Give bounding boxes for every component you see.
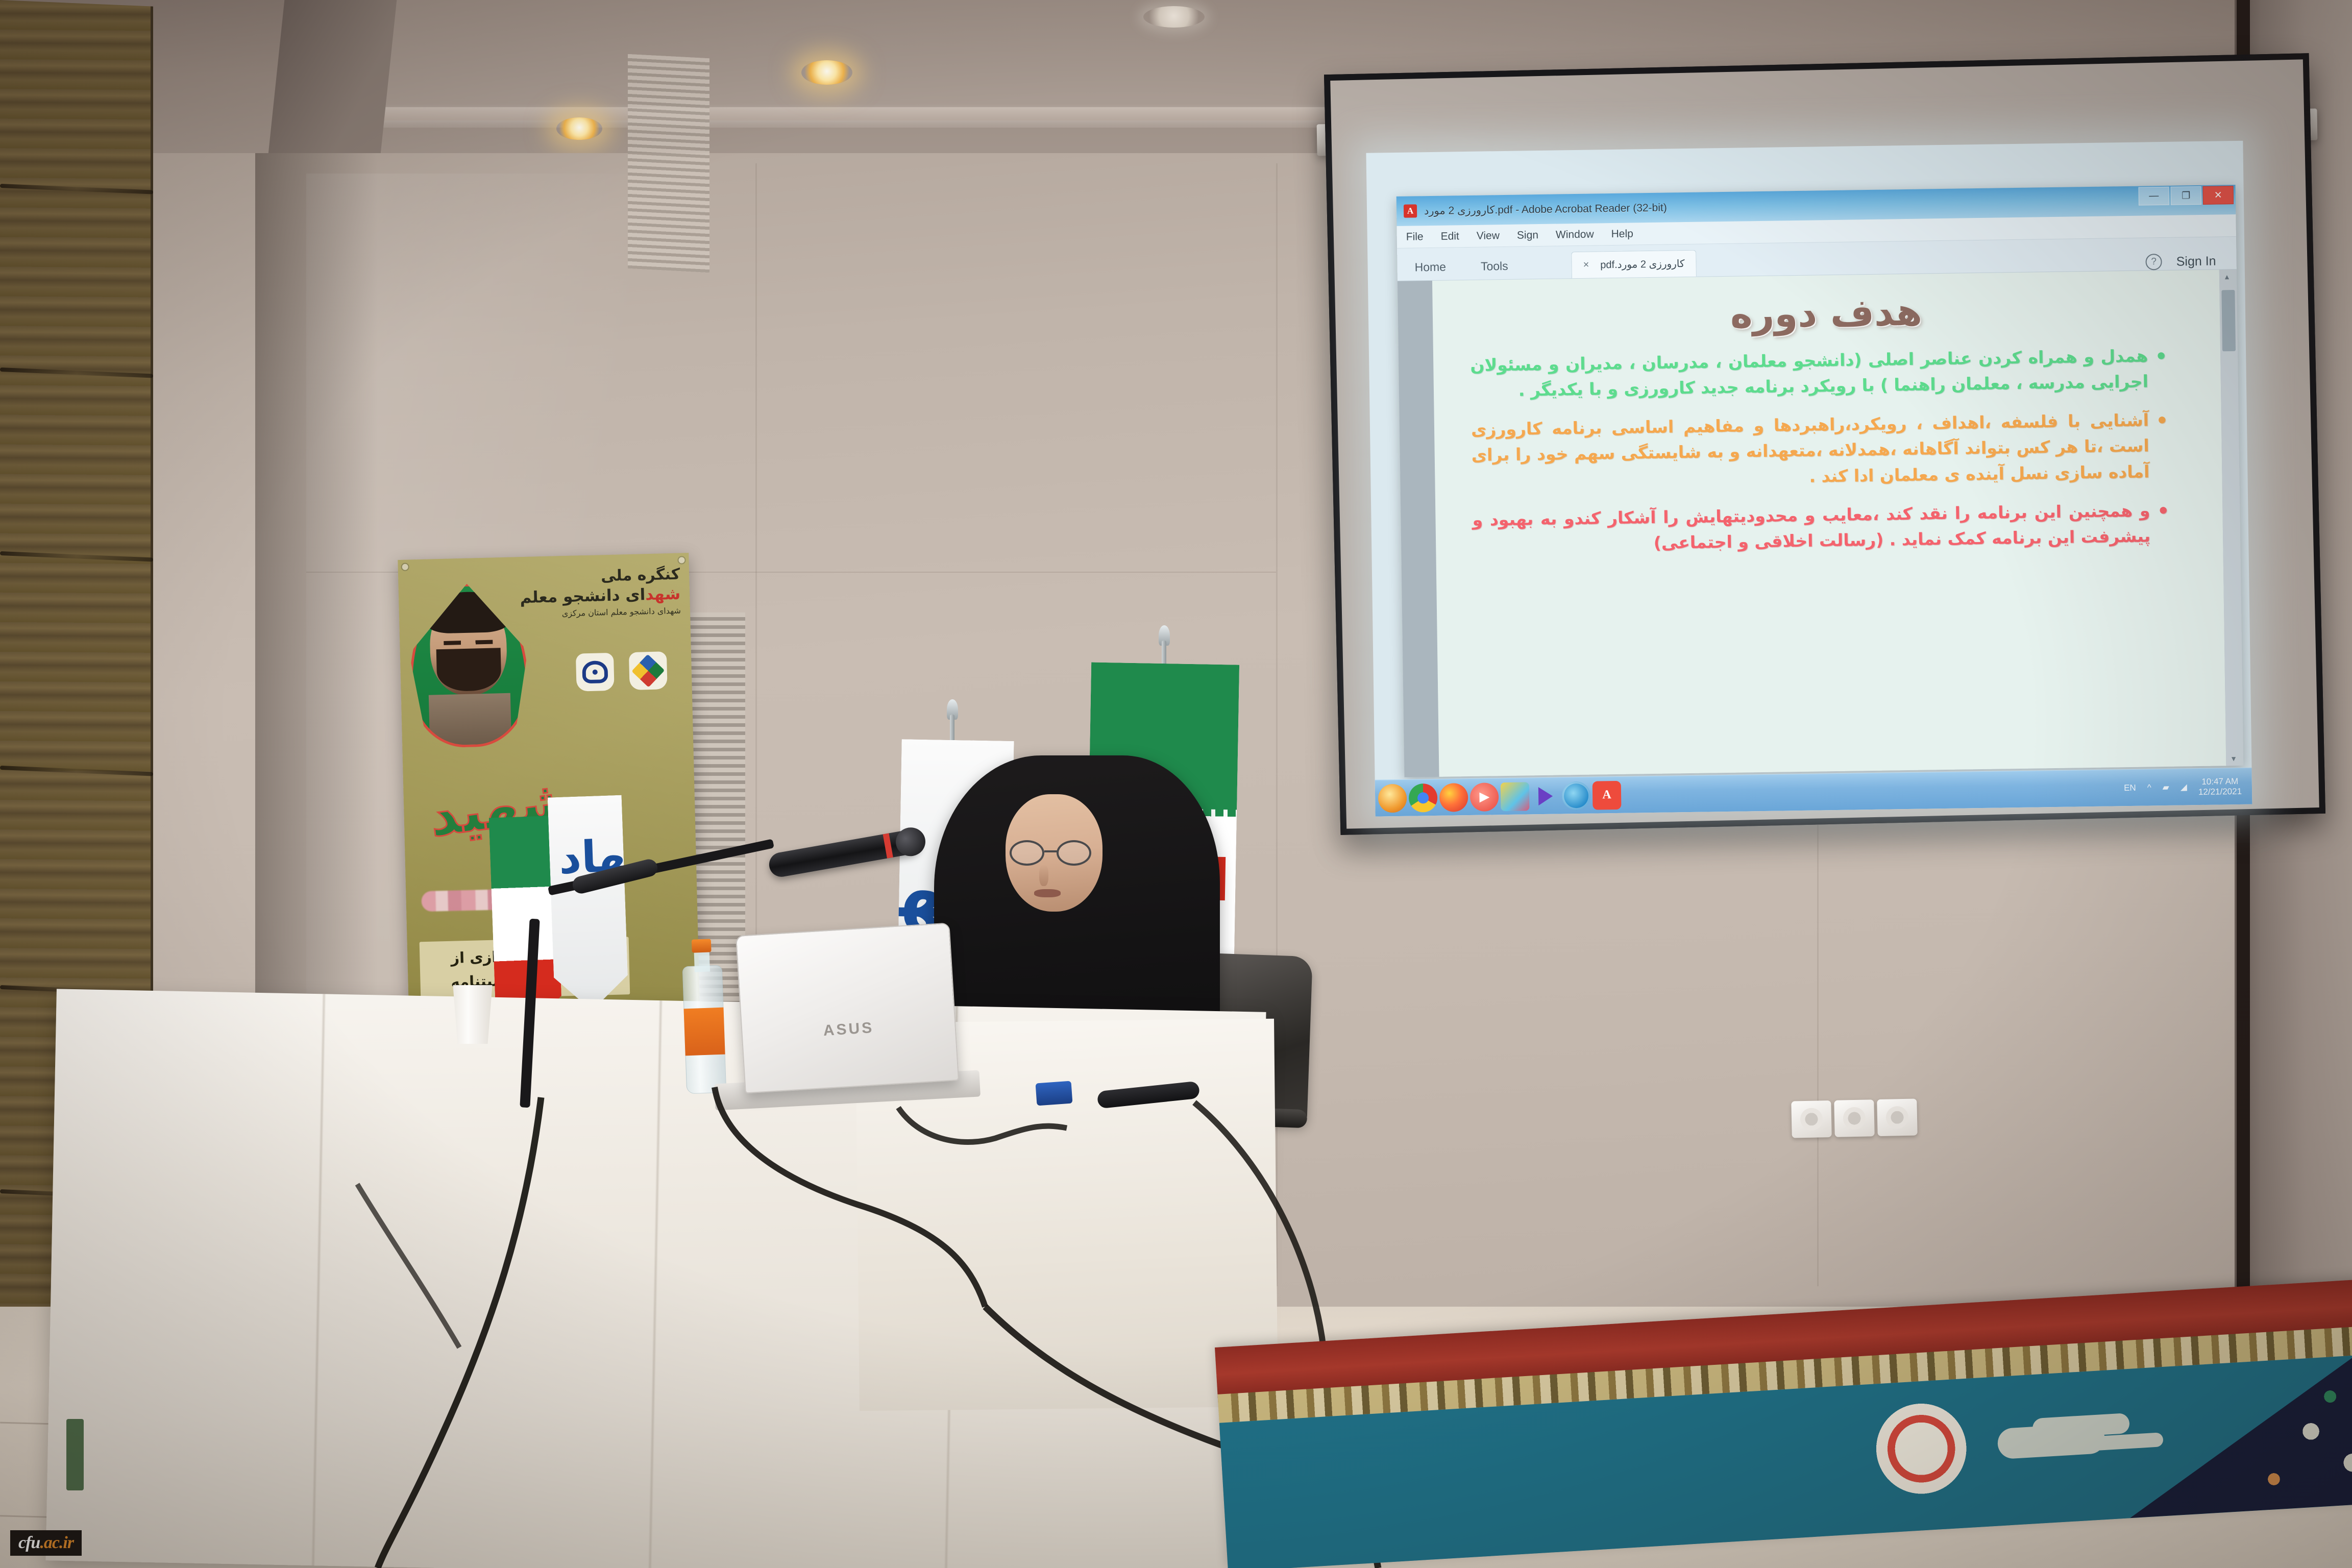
wall-outlet-3[interactable] — [1877, 1098, 1917, 1136]
close-icon[interactable]: × — [1583, 259, 1589, 271]
glasses-lens-left — [1010, 840, 1044, 866]
menu-item-window[interactable]: Window — [1556, 228, 1594, 241]
organization-logo-1 — [576, 653, 615, 692]
acrobat-reader-icon[interactable]: A — [1592, 780, 1622, 810]
banner-logos — [576, 651, 668, 691]
window-blinds-upper — [628, 54, 709, 273]
window-title: کارورزی 2 مورد.pdf - Adobe Acrobat Reade… — [1424, 201, 1667, 217]
glasses-bridge — [1044, 850, 1058, 852]
clock-date: 12/21/2021 — [2198, 786, 2242, 797]
menu-item-sign[interactable]: Sign — [1517, 229, 1538, 242]
projection-screen: A کارورزی 2 مورد.pdf - Adobe Acrobat Rea… — [1324, 53, 2325, 835]
language-indicator[interactable]: EN — [2124, 782, 2136, 793]
organization-logo-2 — [629, 651, 668, 690]
slide-bullet-2: آشنایی با فلسفه ،اهداف ، رویکرد،راهبردها… — [1471, 407, 2170, 494]
ceiling-bulkhead — [267, 0, 397, 168]
close-button[interactable]: ✕ — [2203, 186, 2234, 205]
banner-grommet-tr — [678, 557, 684, 563]
banner-line-2-highlight: شهد — [645, 585, 681, 604]
pdf-page: هدف دوره همدل و همراه کردن عناصر اصلی (د… — [1432, 269, 2226, 776]
scroll-up-icon[interactable]: ▲ — [2223, 273, 2231, 281]
table-leg-left — [66, 1419, 84, 1490]
desk-flag-organization: جهاد — [548, 795, 629, 1012]
internet-explorer-icon[interactable] — [1562, 781, 1591, 810]
titlebar-right-actions: ? Sign In — [2146, 253, 2237, 270]
menu-item-edit[interactable]: Edit — [1440, 230, 1459, 243]
ceiling-downlight-6 — [1143, 6, 1205, 28]
martyr-portrait — [408, 582, 530, 749]
tab-document[interactable]: کارورزی 2 مورد.pdf × — [1571, 250, 1697, 278]
presenter-glasses — [1010, 840, 1102, 866]
banner-line-2-rest: ای دانشجو معلم — [520, 585, 646, 607]
menu-item-view[interactable]: View — [1477, 230, 1500, 242]
tab-document-label: کارورزی 2 مورد.pdf — [1600, 257, 1684, 271]
acrobat-reader-window[interactable]: A کارورزی 2 مورد.pdf - Adobe Acrobat Rea… — [1396, 185, 2244, 777]
portrait-torso — [429, 693, 511, 746]
laptop-lid — [736, 922, 959, 1093]
menu-item-help[interactable]: Help — [1611, 228, 1633, 240]
carpet-cloud-motif — [1997, 1423, 2105, 1459]
banner-line-1: کنگره ملی — [519, 566, 680, 587]
help-icon[interactable]: ? — [2146, 254, 2162, 270]
watermark-part-1: cfu — [18, 1533, 40, 1552]
scrollbar-thumb[interactable] — [2221, 290, 2236, 351]
chrome-icon[interactable] — [1409, 783, 1438, 812]
slide-bullet-3: و همچنین این برنامه را نقد کند ،معایب و … — [1472, 498, 2171, 558]
ceiling-downlight-1 — [556, 117, 602, 140]
clock-time: 10:47 AM — [2201, 776, 2238, 787]
portrait-face — [429, 597, 508, 696]
tray-expand-icon[interactable]: ^ — [2147, 782, 2151, 793]
site-watermark: cfu.ac.ir — [10, 1530, 82, 1556]
network-icon[interactable]: ▰ — [2163, 782, 2169, 792]
maximize-button[interactable]: ❐ — [2171, 186, 2201, 205]
menu-item-file[interactable]: File — [1406, 231, 1424, 243]
start-orb-icon[interactable] — [1378, 783, 1407, 813]
firefox-icon[interactable] — [1439, 783, 1468, 812]
bottle-cap — [692, 939, 712, 952]
blue-marker-cap — [1036, 1081, 1073, 1106]
ceiling-downlight-2 — [801, 60, 852, 85]
vlc-icon[interactable] — [1531, 781, 1560, 811]
water-bottle — [681, 939, 726, 1093]
glasses-lens-right — [1057, 840, 1091, 866]
document-viewport: هدف دوره همدل و همراه کردن عناصر اصلی (د… — [1398, 269, 2243, 777]
watermark-part-2: .ac.ir — [40, 1533, 73, 1552]
media-player-icon[interactable]: ▶ — [1470, 782, 1499, 812]
banner-line-2: شهدای دانشجو معلم — [520, 585, 680, 607]
laptop[interactable]: ASUS — [736, 922, 959, 1093]
portrait-hair — [424, 591, 511, 634]
banner-grommet-tl — [402, 564, 408, 570]
tab-tools[interactable]: Tools — [1463, 252, 1526, 280]
banner-heading: کنگره ملی شهدای دانشجو معلم شهدای دانشجو… — [519, 566, 681, 620]
tab-home[interactable]: Home — [1397, 253, 1463, 281]
system-tray: EN ^ ▰ ◢ 10:47 AM 12/21/2021 — [2124, 776, 2252, 798]
bottle-label — [684, 1008, 725, 1056]
microphone-red-band — [883, 833, 893, 858]
taskbar-clock[interactable]: 10:47 AM 12/21/2021 — [2198, 776, 2242, 797]
presenter-nose — [1039, 865, 1048, 886]
wall-outlets[interactable] — [1791, 1098, 1917, 1138]
slide-bullet-list: همدل و همراه کردن عناصر اصلی (دانشجو معل… — [1460, 342, 2196, 558]
slide-title: هدف دوره — [1459, 286, 2193, 340]
wall-outlet-2[interactable] — [1834, 1099, 1874, 1137]
projected-desktop: A کارورزی 2 مورد.pdf - Adobe Acrobat Rea… — [1366, 141, 2252, 817]
portrait-beard — [436, 648, 502, 692]
window-controls: — ❐ ✕ — [2139, 186, 2234, 206]
laptop-brand-label: ASUS — [823, 1019, 874, 1040]
volume-icon[interactable]: ◢ — [2180, 782, 2187, 792]
sign-in-link[interactable]: Sign In — [2176, 254, 2216, 269]
banner-line-3: شهدای دانشجو معلم استان مرکزی — [520, 606, 681, 620]
slide-bullet-1: همدل و همراه کردن عناصر اصلی (دانشجو معل… — [1470, 343, 2169, 404]
scroll-down-icon[interactable]: ▼ — [2230, 754, 2237, 763]
conference-room-scene: A کارورزی 2 مورد.pdf - Adobe Acrobat Rea… — [0, 0, 2352, 1568]
presenter-mouth — [1034, 889, 1061, 897]
wall-outlet-1[interactable] — [1791, 1100, 1831, 1138]
acrobat-logo-icon: A — [1404, 204, 1417, 217]
portrait-eyes — [444, 640, 493, 645]
minimize-button[interactable]: — — [2139, 187, 2169, 206]
colorful-app-icon[interactable] — [1501, 782, 1530, 811]
